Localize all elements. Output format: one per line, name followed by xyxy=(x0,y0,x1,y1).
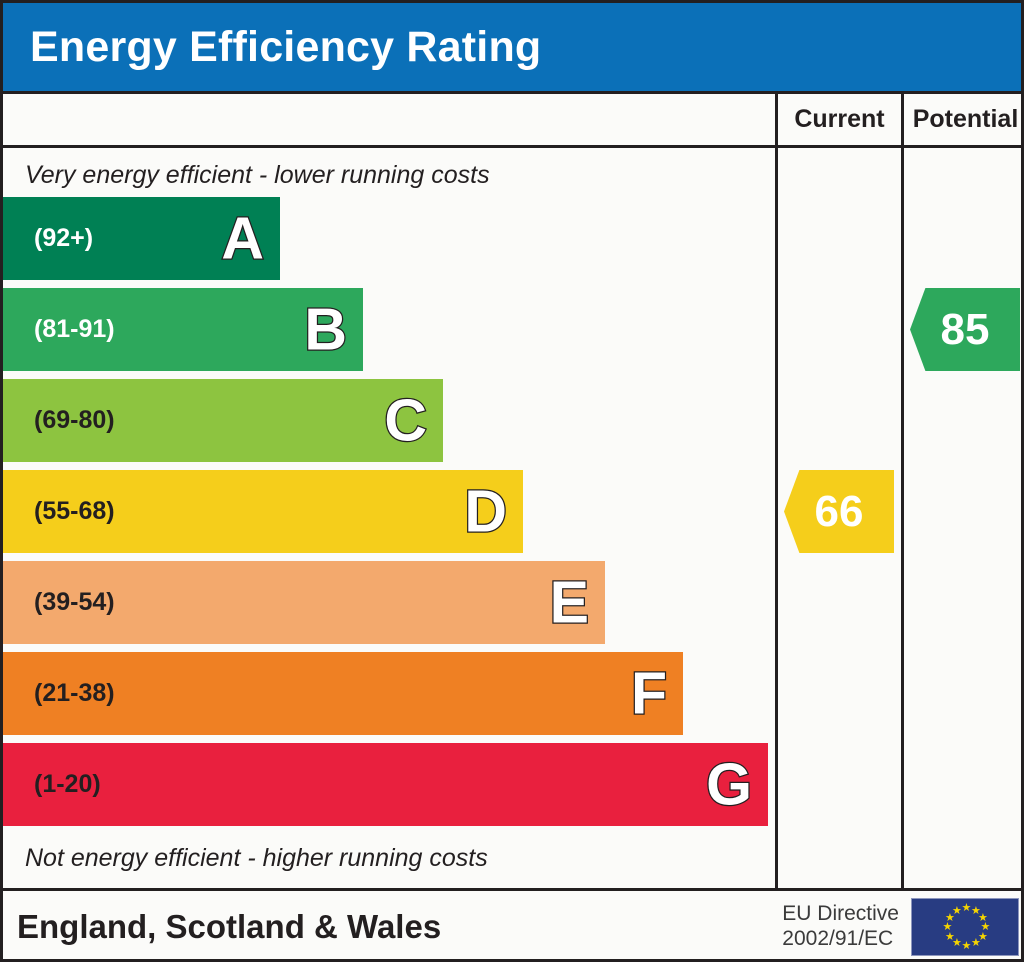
band-bar-a: (92+) A xyxy=(3,197,280,280)
footer-bar: England, Scotland & Wales EU Directive 2… xyxy=(3,888,1024,962)
eu-flag-star: ★ xyxy=(952,907,961,916)
band-row-d: (55-68) D xyxy=(3,466,775,557)
column-divider-current xyxy=(775,148,778,888)
footer-directive-group: EU Directive 2002/91/EC ★★★★★★★★★★★★ xyxy=(782,898,1019,956)
caption-not-efficient: Not energy efficient - higher running co… xyxy=(25,844,488,873)
band-bar-e: (39-54) E xyxy=(3,561,605,644)
column-header-potential: Potential xyxy=(901,94,1024,145)
eu-directive-line1: EU Directive xyxy=(782,902,899,927)
band-letter-f: F xyxy=(631,664,667,723)
epc-certificate: Energy Efficiency Rating Current Potenti… xyxy=(0,0,1024,962)
column-header-current: Current xyxy=(775,94,901,145)
eu-flag-icon: ★★★★★★★★★★★★ xyxy=(911,898,1019,956)
band-range-a: (92+) xyxy=(3,224,93,253)
band-row-b: (81-91) B xyxy=(3,284,775,375)
band-row-f: (21-38) F xyxy=(3,648,775,739)
band-letter-c: C xyxy=(384,391,427,450)
footer-region-label: England, Scotland & Wales xyxy=(3,908,441,946)
band-row-e: (39-54) E xyxy=(3,557,775,648)
eu-directive-text: EU Directive 2002/91/EC xyxy=(782,902,899,952)
eu-flag-star: ★ xyxy=(945,933,954,942)
band-range-e: (39-54) xyxy=(3,588,115,617)
band-row-g: (1-20) G xyxy=(3,739,775,830)
band-letter-g: G xyxy=(706,755,752,814)
eu-flag-star: ★ xyxy=(962,942,971,951)
band-row-a: (92+) A xyxy=(3,193,775,284)
rating-bands: (92+) A (81-91) B (69-80) C (55-68) xyxy=(3,193,775,830)
band-bar-d: (55-68) D xyxy=(3,470,523,553)
eu-flag-star: ★ xyxy=(943,923,952,932)
header-banner: Energy Efficiency Rating xyxy=(3,3,1024,91)
column-header-row: Current Potential xyxy=(3,91,1024,148)
chart-body: Very energy efficient - lower running co… xyxy=(3,148,1024,888)
band-bar-f: (21-38) F xyxy=(3,652,683,735)
band-letter-d: D xyxy=(464,482,507,541)
band-letter-a: A xyxy=(221,209,264,268)
band-range-f: (21-38) xyxy=(3,679,115,708)
band-range-c: (69-80) xyxy=(3,406,115,435)
band-bar-g: (1-20) G xyxy=(3,743,768,826)
band-bar-b: (81-91) B xyxy=(3,288,363,371)
page-title: Energy Efficiency Rating xyxy=(3,23,541,72)
current-rating-marker: 66 xyxy=(784,470,894,553)
eu-flag-star: ★ xyxy=(962,904,971,913)
eu-flag-star: ★ xyxy=(971,939,980,948)
potential-rating-marker: 85 xyxy=(910,288,1020,371)
column-divider-potential xyxy=(901,148,904,888)
eu-directive-line2: 2002/91/EC xyxy=(782,927,899,952)
band-range-d: (55-68) xyxy=(3,497,115,526)
caption-very-efficient: Very energy efficient - lower running co… xyxy=(25,161,490,190)
band-range-b: (81-91) xyxy=(3,315,115,344)
band-letter-e: E xyxy=(550,573,589,632)
band-row-c: (69-80) C xyxy=(3,375,775,466)
band-letter-b: B xyxy=(304,300,347,359)
band-bar-c: (69-80) C xyxy=(3,379,443,462)
band-range-g: (1-20) xyxy=(3,770,101,799)
